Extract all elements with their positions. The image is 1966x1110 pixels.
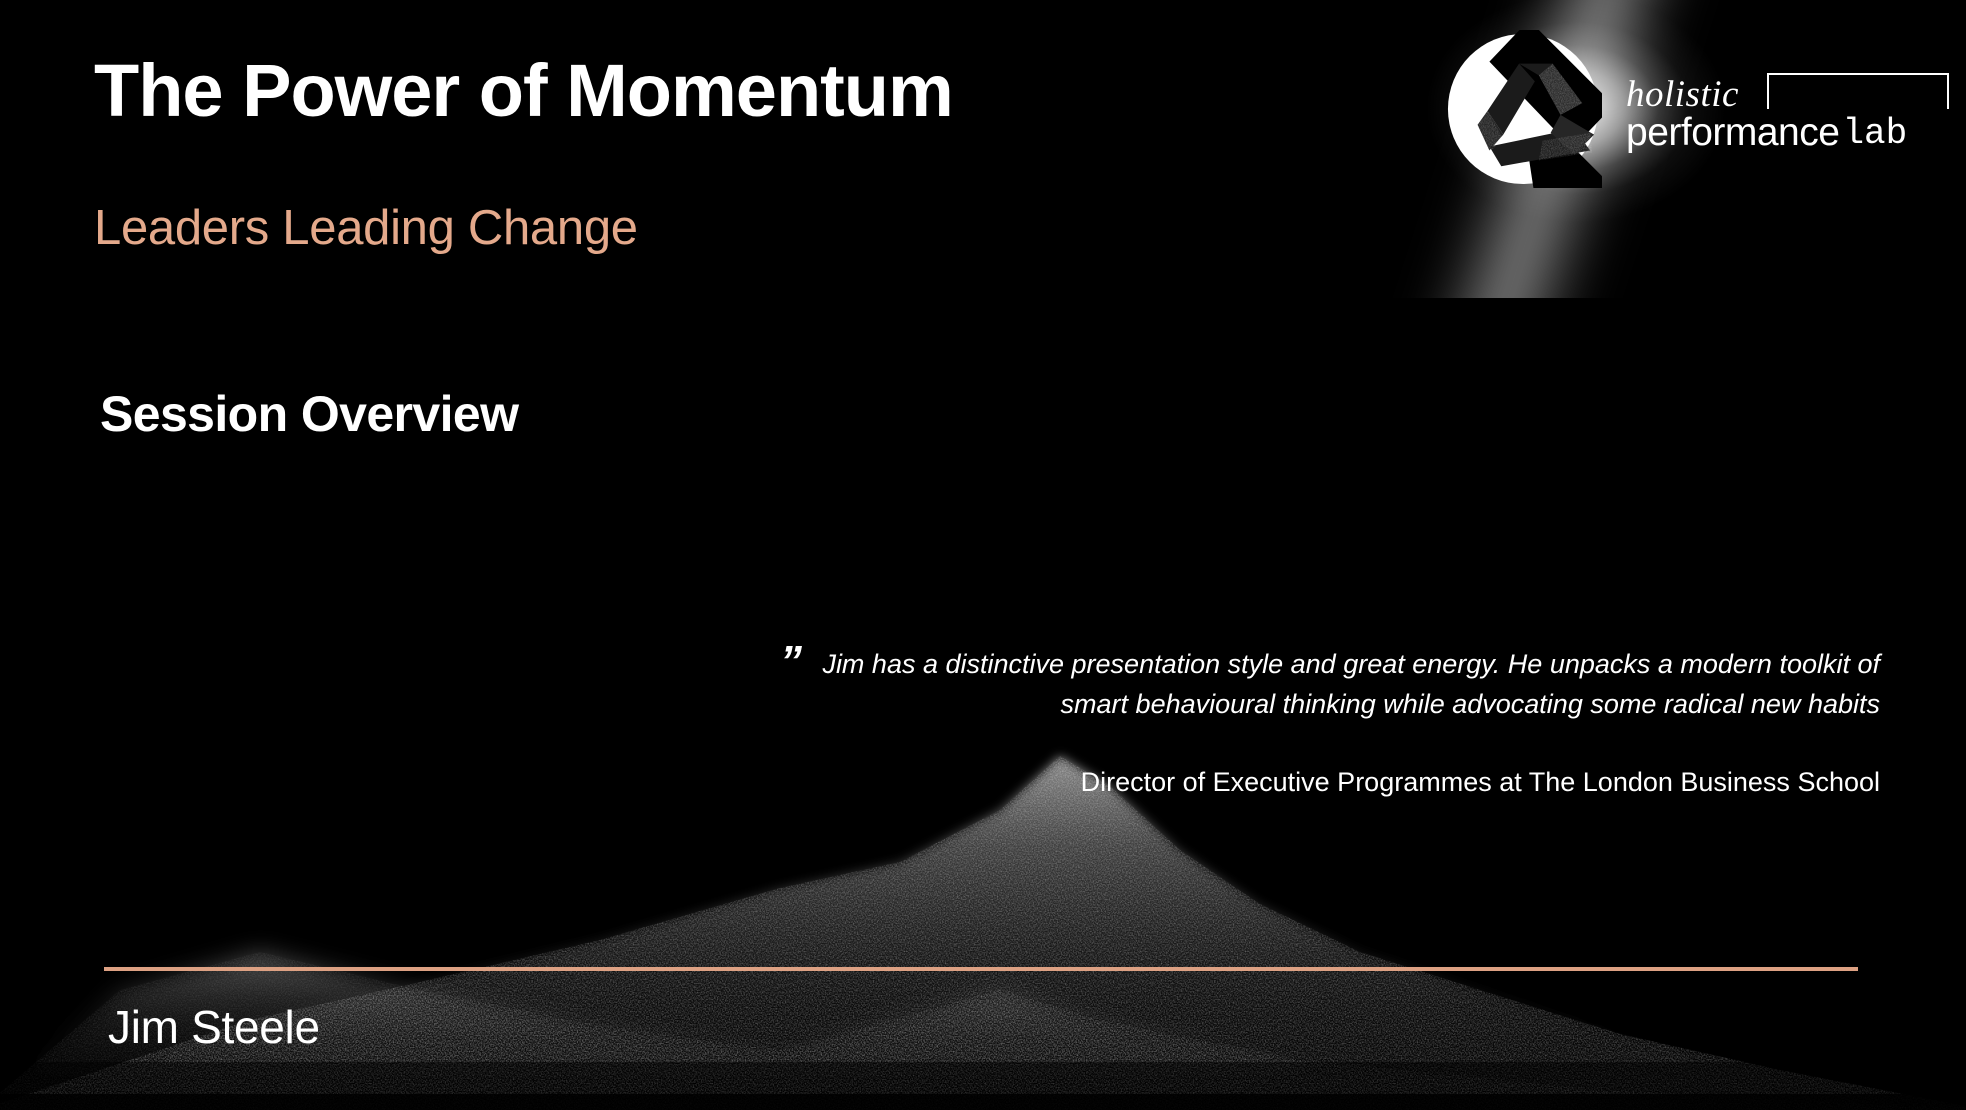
quote-text: Jim has a distinctive presentation style… bbox=[770, 645, 1880, 725]
logo-word-performance: performance bbox=[1626, 113, 1839, 152]
testimonial-block: ” Jim has a distinctive presentation sty… bbox=[770, 645, 1880, 800]
quote-mark-icon: ” bbox=[780, 640, 802, 684]
slide-canvas: The Power of Momentum Leaders Leading Ch… bbox=[0, 0, 1966, 1110]
holistic-performance-lab-mark-icon bbox=[1444, 30, 1602, 188]
section-heading: Session Overview bbox=[100, 385, 518, 443]
footer-divider bbox=[104, 967, 1858, 971]
page-subtitle: Leaders Leading Change bbox=[94, 200, 638, 256]
page-title: The Power of Momentum bbox=[94, 48, 953, 133]
speaker-name: Jim Steele bbox=[108, 1000, 320, 1054]
brand-logo: holistic performance lab bbox=[1426, 8, 1956, 223]
logo-wordmark: holistic performance lab bbox=[1626, 78, 1946, 152]
logo-word-lab: lab bbox=[1839, 116, 1907, 152]
quote-attribution: Director of Executive Programmes at The … bbox=[770, 765, 1880, 800]
logo-bracket bbox=[1767, 73, 1949, 109]
